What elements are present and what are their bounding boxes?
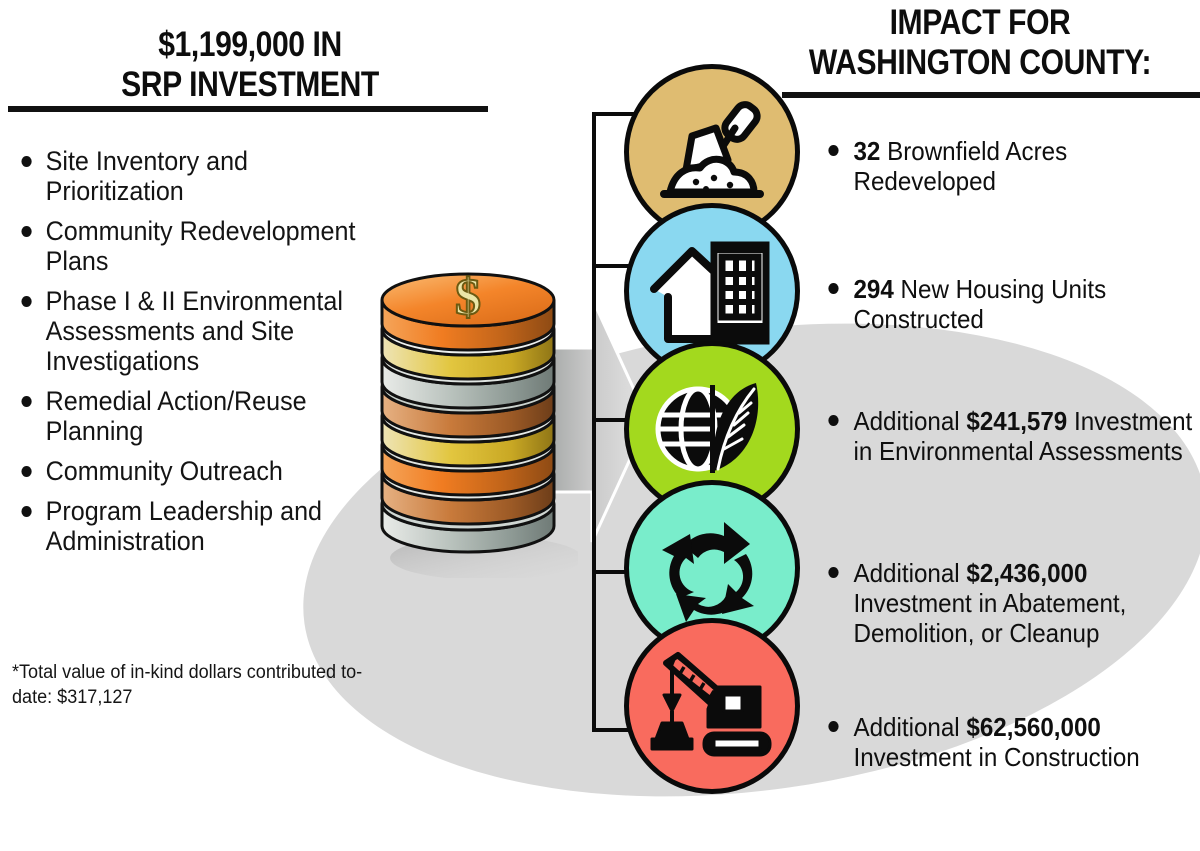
infographic-canvas: $1,199,000 IN SRP INVESTMENT Site Invent… — [0, 0, 1200, 801]
list-item: Program Leadership and Administration — [14, 496, 386, 556]
impact-item-4: Additional $2,436,000 Investment in Abat… — [820, 558, 1200, 648]
connector-spine — [592, 112, 596, 732]
left-title-line-2: SRP INVESTMENT — [52, 65, 448, 105]
impact-value: $241,579 — [966, 406, 1067, 436]
impact-value: 294 — [853, 274, 893, 304]
impact-item-2: 294 New Housing Units Constructed — [820, 274, 1200, 334]
list-item: Remedial Action/Reuse Planning — [14, 386, 386, 446]
list-item: Site Inventory and Prioritization — [14, 146, 386, 206]
srp-activities-list: Site Inventory and Prioritization Commun… — [14, 146, 414, 566]
impact-prefix: Additional — [853, 558, 966, 588]
left-panel-title: $1,199,000 IN SRP INVESTMENT — [52, 25, 448, 105]
left-title-divider — [8, 106, 488, 112]
impact-prefix: Additional — [853, 712, 966, 742]
impact-prefix: Additional — [853, 406, 966, 436]
impact-value: $62,560,000 — [966, 712, 1100, 742]
impact-label: Brownfield Acres Redeveloped — [853, 136, 1067, 196]
left-title-line-1: $1,199,000 IN — [52, 25, 448, 65]
impact-value: $2,436,000 — [966, 558, 1087, 588]
right-title-divider — [782, 92, 1200, 98]
list-item: Community Outreach — [14, 456, 386, 486]
right-title-line-2: WASHINGTON COUNTY: — [791, 43, 1169, 83]
crane-icon — [624, 618, 800, 794]
impact-item-3: Additional $241,579 Investment in Enviro… — [820, 406, 1200, 466]
dollar-sign-glyph: $ — [455, 269, 481, 326]
impact-value: 32 — [853, 136, 880, 166]
right-title-line-1: IMPACT FOR — [791, 3, 1169, 43]
impact-label: Investment in Abatement, Demolition, or … — [853, 588, 1126, 648]
impact-label: Investment in Construction — [853, 742, 1139, 772]
list-item: Community Redevelopment Plans — [14, 216, 386, 276]
footnote-text: *Total value of in-kind dollars contribu… — [12, 660, 392, 710]
impact-item-1: 32 Brownfield Acres Redeveloped — [820, 136, 1188, 196]
right-panel-title: IMPACT FOR WASHINGTON COUNTY: — [791, 3, 1169, 83]
impact-item-5: Additional $62,560,000 Investment in Con… — [820, 712, 1200, 772]
list-item: Phase I & II Environmental Assessments a… — [14, 286, 386, 376]
